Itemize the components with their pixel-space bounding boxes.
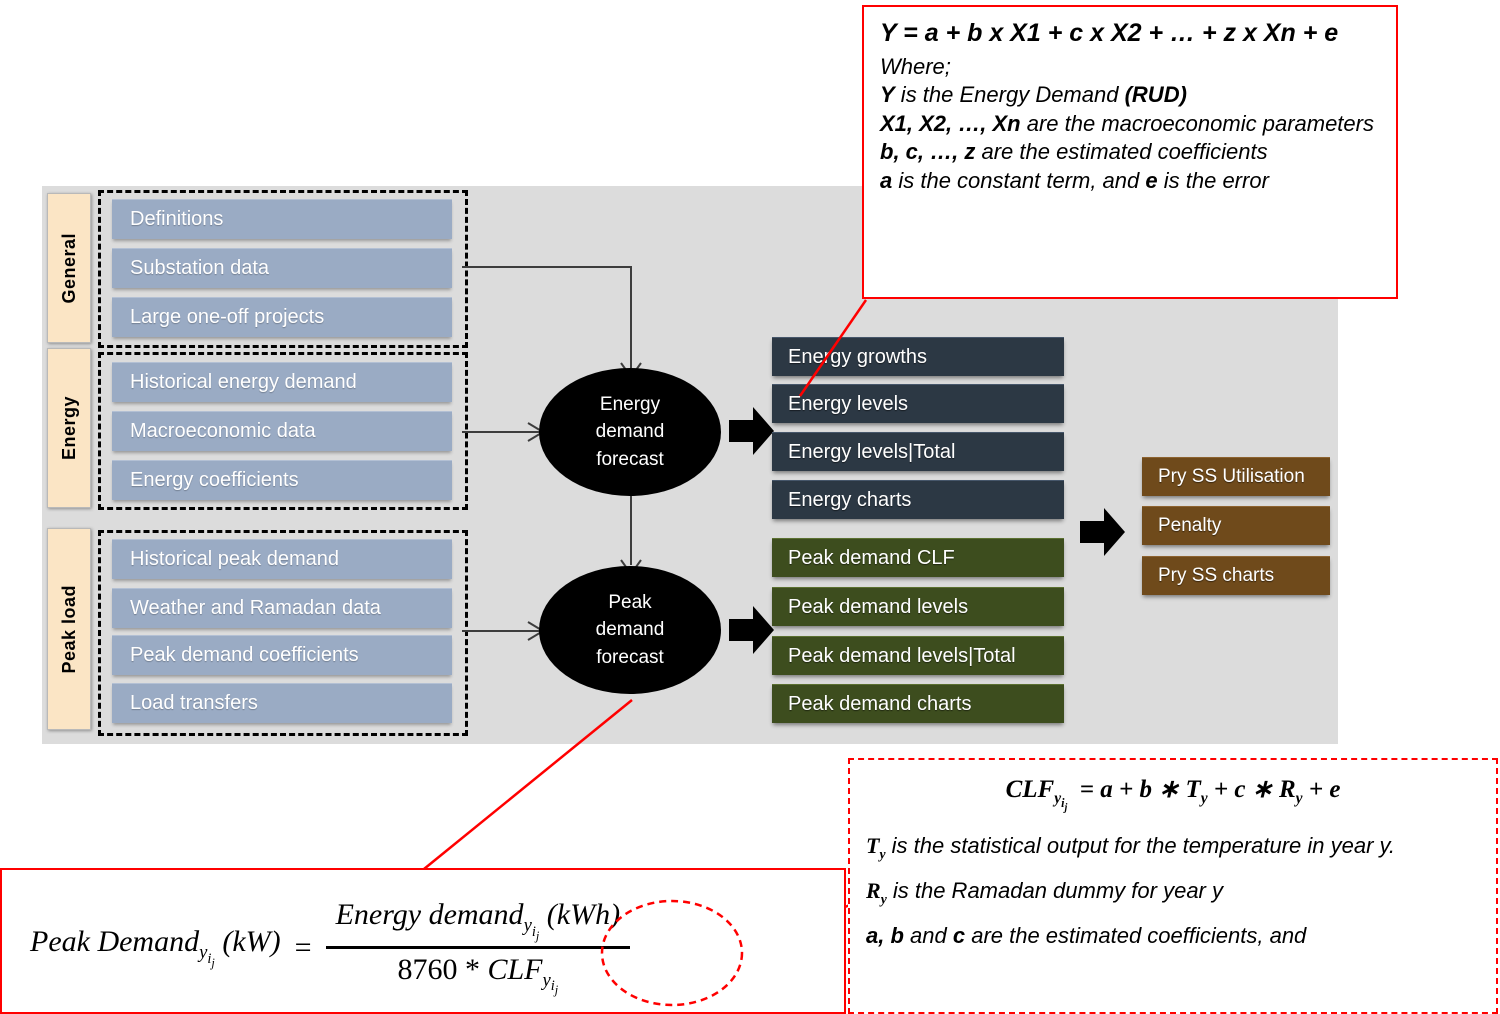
- output-box-label: Energy levels: [788, 393, 908, 416]
- output-box-label: Energy growths: [788, 346, 927, 369]
- clf-term-ab: a, b: [866, 923, 904, 948]
- callout-term: e: [1145, 168, 1157, 193]
- output-box-label: Peak demand levels|Total: [788, 645, 1016, 668]
- block-arrow-energy-outputs: [729, 404, 775, 458]
- connector-general-vertical: [630, 266, 632, 368]
- output-box-penalty[interactable]: Penalty: [1142, 506, 1330, 545]
- input-box-label: Historical energy demand: [130, 371, 357, 394]
- clf-line-coefficients: a, b and c are the estimated coefficient…: [866, 922, 1480, 951]
- input-box-peak-demand-coefficients[interactable]: Peak demand coefficients: [112, 635, 452, 675]
- clf-term-r: Ry: [866, 878, 887, 903]
- input-box-label: Historical peak demand: [130, 548, 339, 571]
- category-tab-general[interactable]: General: [47, 193, 91, 343]
- clf-line-temperature: Ty is the statistical output for the tem…: [866, 832, 1480, 863]
- input-box-label: Peak demand coefficients: [130, 644, 359, 667]
- callout-term: Y: [880, 82, 895, 107]
- output-box-energy-charts[interactable]: Energy charts: [772, 480, 1064, 519]
- output-box-peak-demand-charts[interactable]: Peak demand charts: [772, 684, 1064, 723]
- process-line: demand: [596, 418, 665, 446]
- clf-text: is the Ramadan dummy for year y: [887, 878, 1223, 903]
- clf-text: are the estimated coefficients, and: [965, 923, 1306, 948]
- output-box-energy-growths[interactable]: Energy growths: [772, 337, 1064, 376]
- process-line: demand: [596, 616, 665, 644]
- formula-denominator-op: *: [465, 953, 480, 986]
- callout-text: are the estimated coefficients: [975, 139, 1267, 164]
- formula-denominator-const: 8760: [397, 953, 457, 986]
- block-arrow-peak-outputs: [729, 603, 775, 657]
- process-line: forecast: [596, 644, 664, 672]
- output-box-label: Peak demand CLF: [788, 547, 955, 570]
- input-box-label: Weather and Ramadan data: [130, 597, 381, 620]
- input-box-label: Macroeconomic data: [130, 420, 316, 443]
- output-box-label: Energy charts: [788, 489, 911, 512]
- output-box-label: Energy levels|Total: [788, 441, 956, 464]
- output-box-label: Pry SS Utilisation: [1158, 466, 1305, 488]
- callout-text: are the macroeconomic parameters: [1021, 111, 1374, 136]
- callout-text: is the error: [1158, 168, 1269, 193]
- category-tab-general-label: General: [59, 233, 80, 304]
- callout-peak-demand-equation: Peak Demandyij (kW) = Energy demandyij (…: [0, 868, 846, 1014]
- formula-equals: =: [295, 931, 312, 965]
- output-box-energy-levels-total[interactable]: Energy levels|Total: [772, 432, 1064, 471]
- callout-term: b, c, …, z: [880, 139, 975, 164]
- output-box-peak-demand-levels[interactable]: Peak demand levels: [772, 587, 1064, 626]
- process-line: Peak: [608, 589, 651, 617]
- callout-text: is the constant term, and: [892, 168, 1145, 193]
- callout-energy-line-coeff: b, c, …, z are the estimated coefficient…: [880, 138, 1382, 167]
- connector-general-horizontal: [462, 266, 632, 268]
- callout-energy-where-label: Where;: [880, 53, 1382, 82]
- clf-formula-lhs: CLF: [1006, 776, 1055, 803]
- input-box-label: Large one-off projects: [130, 306, 324, 329]
- output-box-label: Penalty: [1158, 515, 1221, 537]
- output-box-pry-ss-utilisation[interactable]: Pry SS Utilisation: [1142, 457, 1330, 496]
- formula-lhs-text: Peak Demand: [30, 925, 199, 958]
- formula-lhs-unit: (kW): [222, 925, 280, 958]
- process-energy-demand-forecast[interactable]: Energy demand forecast: [539, 368, 721, 496]
- input-box-historical-peak-demand[interactable]: Historical peak demand: [112, 539, 452, 579]
- input-box-label: Energy coefficients: [130, 469, 299, 492]
- input-box-historical-energy-demand[interactable]: Historical energy demand: [112, 362, 452, 402]
- input-box-definitions[interactable]: Definitions: [112, 199, 452, 239]
- input-box-macroeconomic-data[interactable]: Macroeconomic data: [112, 411, 452, 451]
- formula-fraction: Energy demandyij (kWh) 8760 * CLFyij: [326, 898, 631, 998]
- clf-term-c: c: [953, 923, 965, 948]
- category-tab-peak-load[interactable]: Peak load: [47, 528, 91, 730]
- callout-energy-regression: Y = a + b x X1 + c x X2 + … + z x Xn + e…: [862, 5, 1398, 299]
- clf-term-t: Ty: [866, 833, 886, 858]
- output-box-label: Peak demand levels: [788, 596, 968, 619]
- callout-term: X1, X2, …, Xn: [880, 111, 1021, 136]
- callout-clf-equation: CLFyij = a + b ∗ Ty + c ∗ Ry + e Ty is t…: [848, 758, 1498, 1014]
- connector-energy-to-peak: [630, 495, 632, 565]
- input-box-substation-data[interactable]: Substation data: [112, 248, 452, 288]
- process-line: forecast: [596, 446, 664, 474]
- clf-formula: CLFyij = a + b ∗ Ty + c ∗ Ry + e: [866, 774, 1480, 814]
- input-box-load-transfers[interactable]: Load transfers: [112, 683, 452, 723]
- clf-highlight-ellipse: [598, 898, 746, 1008]
- input-box-weather-and-ramadan-data[interactable]: Weather and Ramadan data: [112, 588, 452, 628]
- category-tab-energy-label: Energy: [59, 396, 80, 460]
- callout-energy-line-x: X1, X2, …, Xn are the macroeconomic para…: [880, 110, 1382, 139]
- clf-line-ramadan: Ry is the Ramadan dummy for year y: [866, 877, 1480, 908]
- formula-numerator: Energy demandyij (kWh): [326, 898, 631, 946]
- input-box-label: Load transfers: [130, 692, 258, 715]
- input-box-label: Definitions: [130, 208, 223, 231]
- input-box-energy-coefficients[interactable]: Energy coefficients: [112, 460, 452, 500]
- callout-energy-line-y: Y is the Energy Demand (RUD): [880, 81, 1382, 110]
- clf-text: and: [904, 923, 953, 948]
- input-box-label: Substation data: [130, 257, 269, 280]
- process-line: Energy: [600, 391, 660, 419]
- input-box-large-one-off-projects[interactable]: Large one-off projects: [112, 297, 452, 337]
- output-box-label: Peak demand charts: [788, 693, 971, 716]
- callout-energy-equation: Y = a + b x X1 + c x X2 + … + z x Xn + e: [880, 19, 1382, 49]
- formula-lhs: Peak Demandyij (kW): [30, 925, 281, 971]
- output-box-pry-ss-charts[interactable]: Pry SS charts: [1142, 556, 1330, 595]
- process-peak-demand-forecast[interactable]: Peak demand forecast: [539, 566, 721, 694]
- formula-denominator-term: CLF: [487, 953, 542, 986]
- formula-denominator: 8760 * CLFyij: [387, 949, 568, 999]
- callout-energy-line-const: a is the constant term, and e is the err…: [880, 167, 1382, 196]
- output-box-peak-demand-clf[interactable]: Peak demand CLF: [772, 538, 1064, 577]
- output-box-peak-demand-levels-total[interactable]: Peak demand levels|Total: [772, 636, 1064, 675]
- clf-text: is the statistical output for the temper…: [886, 833, 1396, 858]
- formula-numerator-text: Energy demand: [336, 898, 524, 931]
- category-tab-energy[interactable]: Energy: [47, 348, 91, 508]
- output-box-energy-levels[interactable]: Energy levels: [772, 384, 1064, 423]
- category-tab-peak-load-label: Peak load: [59, 585, 80, 674]
- callout-term: (RUD): [1125, 82, 1187, 107]
- output-box-label: Pry SS charts: [1158, 565, 1274, 587]
- callout-text: is the Energy Demand: [895, 82, 1125, 107]
- callout-term: a: [880, 168, 892, 193]
- block-arrow-pry-outputs: [1080, 505, 1126, 559]
